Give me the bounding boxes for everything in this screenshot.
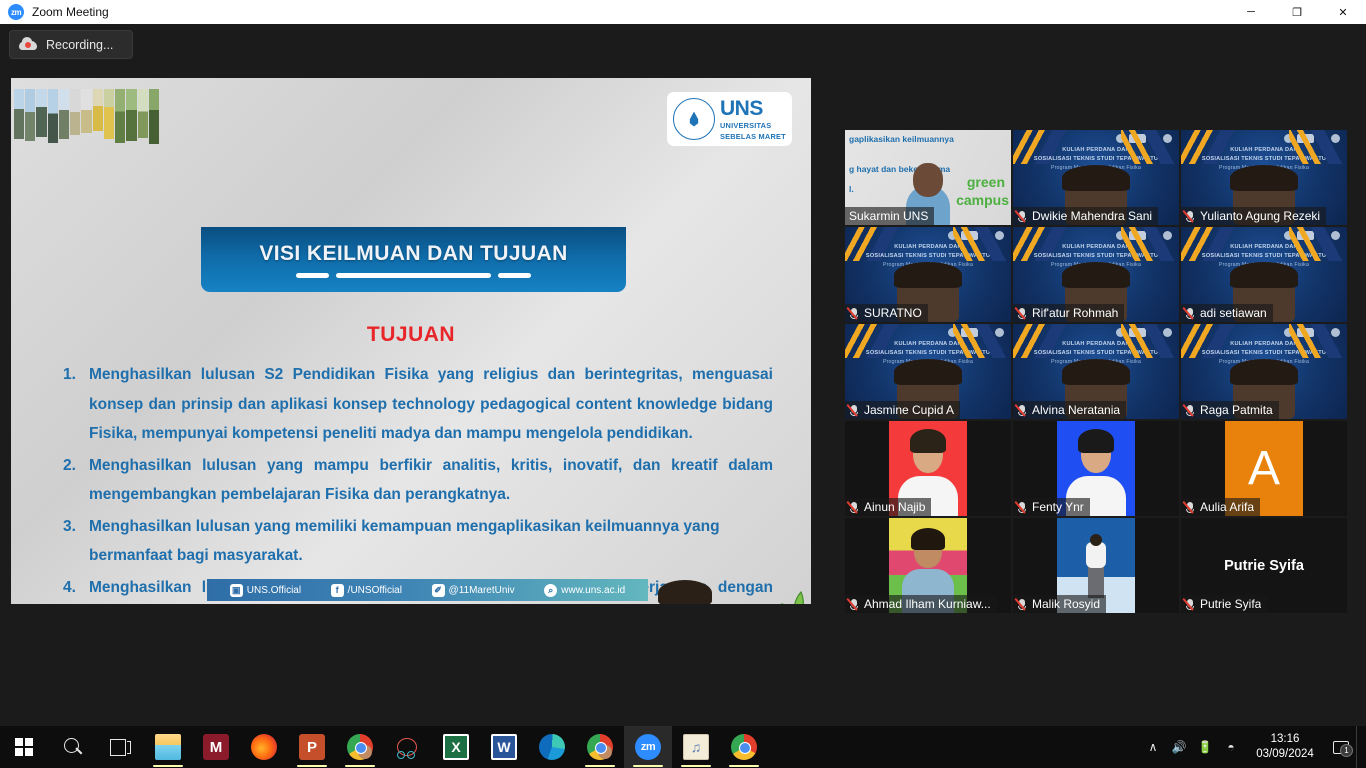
folder-icon: [155, 734, 181, 760]
participant-name: Fenty Ynr: [1032, 500, 1084, 514]
muted-mic-icon: [849, 501, 860, 514]
clock-time: 13:16: [1271, 732, 1300, 747]
taskbar-chrome-profile[interactable]: [336, 726, 384, 768]
slide-objectives-list: 1. Menghasilkan lulusan S2 Pendidikan Fi…: [63, 360, 773, 604]
participant-name-bar: SURATNO: [845, 304, 928, 322]
participant-name: Dwikie Mahendra Sani: [1032, 209, 1152, 223]
slide-header: VISI KEILMUAN DAN TUJUAN: [201, 227, 626, 292]
participant-name: Aulia Arifa: [1200, 500, 1254, 514]
uns-line1: UNIVERSITAS: [720, 122, 786, 129]
wifi-icon[interactable]: ◓: [1218, 726, 1244, 768]
participant-name-bar: adi setiawan: [1181, 304, 1273, 322]
participant-name-bar: Aulia Arifa: [1181, 498, 1260, 516]
edge-icon: [539, 734, 565, 760]
clock-date: 03/09/2024: [1256, 747, 1314, 762]
window-title-bar: zm Zoom Meeting ─ ❐ ✕: [0, 0, 1366, 24]
list-item-number: 2.: [63, 451, 89, 510]
website-search-icon: ⌕: [544, 584, 557, 597]
participant-tile[interactable]: Malik Rosyid: [1013, 518, 1179, 613]
zoom-top-toolbar: Recording...: [0, 24, 1366, 66]
taskbar-chrome-second[interactable]: [576, 726, 624, 768]
firefox-icon: [251, 734, 277, 760]
list-item-number: 1.: [63, 360, 89, 449]
close-button[interactable]: ✕: [1320, 0, 1366, 24]
participant-name: Ainun Najib: [864, 500, 925, 514]
muted-mic-icon: [1185, 307, 1196, 320]
social-label: www.uns.ac.id: [561, 585, 625, 596]
social-label: /UNSOfficial: [348, 585, 402, 596]
search-button[interactable]: [48, 726, 96, 768]
uns-logo: UNS UNIVERSITAS SEBELAS MARET: [667, 92, 792, 146]
participant-grid: gaplikasikan keilmuannyag hayat dan beke…: [845, 130, 1355, 612]
participant-name-bar: Putrie Syifa: [1181, 595, 1267, 613]
snipping-tool-icon: [395, 734, 421, 760]
window-controls: ─ ❐ ✕: [1228, 0, 1366, 24]
participant-tile[interactable]: Ainun Najib: [845, 421, 1011, 516]
banner-logos-icon: [1284, 328, 1340, 337]
slide-subtitle: TUJUAN: [11, 323, 811, 347]
taskbar-zoom[interactable]: zm: [624, 726, 672, 768]
muted-mic-icon: [849, 598, 860, 611]
windows-taskbar: M P X W zm ♫ ∧ 🔊 🔋 ◓ 13:16 03/09/2024 1: [0, 726, 1366, 768]
participant-name: Putrie Syifa: [1200, 597, 1261, 611]
participant-name: Malik Rosyid: [1032, 597, 1100, 611]
taskbar-edge[interactable]: [528, 726, 576, 768]
chrome-icon: [731, 734, 757, 760]
muted-mic-icon: [849, 307, 860, 320]
taskbar-snipping-tool[interactable]: [384, 726, 432, 768]
participant-name: Ahmad Ilham Kurniaw...: [864, 597, 991, 611]
muted-mic-icon: [1185, 404, 1196, 417]
muted-mic-icon: [1185, 598, 1196, 611]
start-button[interactable]: [0, 738, 48, 756]
muted-mic-icon: [1017, 210, 1028, 223]
zoom-icon: zm: [635, 734, 661, 760]
facebook-icon: f: [331, 584, 344, 597]
taskbar-firefox[interactable]: [240, 726, 288, 768]
social-facebook: f /UNSOfficial: [331, 584, 402, 597]
word-icon: W: [491, 734, 517, 760]
muted-mic-icon: [849, 404, 860, 417]
participant-tile[interactable]: KULIAH PERDANA DANSOSIALISASI TEKNIS STU…: [1013, 130, 1179, 225]
participant-name: Jasmine Cupid A: [864, 403, 954, 417]
recording-indicator[interactable]: Recording...: [9, 30, 133, 59]
participant-tile[interactable]: gaplikasikan keilmuannyag hayat dan beke…: [845, 130, 1011, 225]
campus-photo-strip: [14, 89, 159, 146]
uns-acronym: UNS: [720, 98, 786, 119]
notification-count: 1: [1340, 744, 1353, 757]
chrome-icon: [587, 734, 613, 760]
muted-mic-icon: [1017, 307, 1028, 320]
instagram-icon: ▣: [230, 584, 243, 597]
list-item: 3. Menghasilkan lulusan yang memiliki ke…: [63, 512, 773, 571]
banner-logos-icon: [1284, 231, 1340, 240]
show-hidden-icons-button[interactable]: ∧: [1140, 726, 1166, 768]
list-item: 1. Menghasilkan lulusan S2 Pendidikan Fi…: [63, 360, 773, 449]
taskbar-chrome-third[interactable]: [720, 726, 768, 768]
powerpoint-icon: P: [299, 734, 325, 760]
banner-logos-icon: [948, 328, 1004, 337]
social-instagram: ▣ UNS.Official: [230, 584, 301, 597]
banner-logos-icon: [1116, 328, 1172, 337]
participant-name: Yulianto Agung Rezeki: [1200, 209, 1320, 223]
leaf-icon: [779, 591, 811, 604]
battery-charging-icon[interactable]: 🔋: [1192, 726, 1218, 768]
list-item: 2. Menghasilkan lulusan yang mampu berfi…: [63, 451, 773, 510]
participant-name: Alvina Neratania: [1032, 403, 1120, 417]
social-label: @11MaretUniv: [449, 585, 515, 596]
presenter-video-overlay: [639, 578, 731, 604]
participant-name-bar: Alvina Neratania: [1013, 401, 1126, 419]
participant-tile[interactable]: KULIAH PERDANA DANSOSIALISASI TEKNIS STU…: [1181, 227, 1347, 322]
slide-header-rules: [296, 273, 531, 278]
excel-icon: X: [443, 734, 469, 760]
windows-logo-icon: [15, 738, 33, 756]
participant-tile[interactable]: Fenty Ynr: [1013, 421, 1179, 516]
banner-logos-icon: [1116, 231, 1172, 240]
participant-name-bar: Ahmad Ilham Kurniaw...: [845, 595, 997, 613]
participant-name: Raga Patmita: [1200, 403, 1273, 417]
participant-name-bar: Malik Rosyid: [1013, 595, 1106, 613]
participant-name: Rif'atur Rohmah: [1032, 306, 1118, 320]
taskbar-powerpoint[interactable]: P: [288, 726, 336, 768]
desktop-root: zm Zoom Meeting ─ ❐ ✕ Recording...: [0, 0, 1366, 768]
notifications-icon[interactable]: 1: [1326, 726, 1356, 768]
participant-name: Sukarmin UNS: [849, 209, 928, 223]
system-tray: ∧ 🔊 🔋 ◓ 13:16 03/09/2024 1: [1140, 726, 1366, 768]
uns-seal-icon: [673, 98, 715, 140]
social-label: UNS.Official: [247, 585, 301, 596]
task-view-icon: [107, 734, 133, 760]
muted-mic-icon: [1185, 210, 1196, 223]
show-desktop-button[interactable]: [1356, 726, 1362, 768]
participant-tile[interactable]: Putrie SyifaPutrie Syifa: [1181, 518, 1347, 613]
cloud-recording-icon: [19, 39, 37, 51]
taskbar-mendeley[interactable]: M: [192, 726, 240, 768]
search-icon: [59, 734, 85, 760]
twitter-icon: ✐: [432, 584, 445, 597]
banner-logos-icon: [1284, 134, 1340, 143]
shared-screen[interactable]: VISI KEILMUAN DAN TUJUAN UNS UNIVERSITAS…: [11, 78, 811, 604]
participant-name-bar: Jasmine Cupid A: [845, 401, 960, 419]
participant-tile[interactable]: KULIAH PERDANA DANSOSIALISASI TEKNIS STU…: [845, 227, 1011, 322]
list-item-text: Menghasilkan lulusan yang mampu berfikir…: [89, 451, 773, 510]
muted-mic-icon: [1017, 501, 1028, 514]
participant-tile[interactable]: AAulia Arifa: [1181, 421, 1347, 516]
maximize-button[interactable]: ❐: [1274, 0, 1320, 24]
music-icon: ♫: [683, 734, 709, 760]
clock[interactable]: 13:16 03/09/2024: [1244, 732, 1326, 762]
taskbar-file-explorer[interactable]: [144, 726, 192, 768]
list-item-text: Menghasilkan lulusan S2 Pendidikan Fisik…: [89, 360, 773, 449]
chrome-icon: [347, 734, 373, 760]
minimize-button[interactable]: ─: [1228, 0, 1274, 24]
mendeley-icon: M: [203, 734, 229, 760]
recording-label: Recording...: [46, 38, 113, 52]
list-item-number: 4.: [63, 573, 89, 605]
participant-name-bar: Dwikie Mahendra Sani: [1013, 207, 1158, 225]
list-item-text: Menghasilkan lulusan yang memiliki kemam…: [89, 512, 773, 571]
slide-social-bar: ▣ UNS.Official f /UNSOfficial ✐ @11Maret…: [207, 579, 648, 601]
zoom-icon: zm: [8, 4, 24, 20]
task-view-button[interactable]: [96, 726, 144, 768]
participant-tile[interactable]: KULIAH PERDANA DANSOSIALISASI TEKNIS STU…: [1181, 130, 1347, 225]
muted-mic-icon: [1185, 501, 1196, 514]
participant-name-bar: Ainun Najib: [845, 498, 931, 516]
participant-name-bar: Yulianto Agung Rezeki: [1181, 207, 1326, 225]
participant-tile[interactable]: Ahmad Ilham Kurniaw...: [845, 518, 1011, 613]
muted-mic-icon: [1017, 598, 1028, 611]
participant-name: SURATNO: [864, 306, 922, 320]
participant-name-bar: Sukarmin UNS: [845, 207, 934, 225]
taskbar-music-player[interactable]: ♫: [672, 726, 720, 768]
participant-name: adi setiawan: [1200, 306, 1267, 320]
volume-icon[interactable]: 🔊: [1166, 726, 1192, 768]
banner-logos-icon: [948, 231, 1004, 240]
participant-tile[interactable]: KULIAH PERDANA DANSOSIALISASI TEKNIS STU…: [1013, 324, 1179, 419]
participant-tile[interactable]: KULIAH PERDANA DANSOSIALISASI TEKNIS STU…: [845, 324, 1011, 419]
uns-line2: SEBELAS MARET: [720, 133, 786, 140]
taskbar-excel[interactable]: X: [432, 726, 480, 768]
social-twitter: ✐ @11MaretUniv: [432, 584, 515, 597]
participant-name-bar: Rif'atur Rohmah: [1013, 304, 1124, 322]
banner-logos-icon: [1116, 134, 1172, 143]
participant-tile[interactable]: KULIAH PERDANA DANSOSIALISASI TEKNIS STU…: [1013, 227, 1179, 322]
window-title: Zoom Meeting: [32, 5, 109, 19]
participant-name-bar: Fenty Ynr: [1013, 498, 1090, 516]
list-item-number: 3.: [63, 512, 89, 571]
social-website: ⌕ www.uns.ac.id: [544, 584, 625, 597]
muted-mic-icon: [1017, 404, 1028, 417]
taskbar-word[interactable]: W: [480, 726, 528, 768]
slide-header-title: VISI KEILMUAN DAN TUJUAN: [259, 242, 567, 266]
participant-tile[interactable]: KULIAH PERDANA DANSOSIALISASI TEKNIS STU…: [1181, 324, 1347, 419]
participant-name-bar: Raga Patmita: [1181, 401, 1279, 419]
